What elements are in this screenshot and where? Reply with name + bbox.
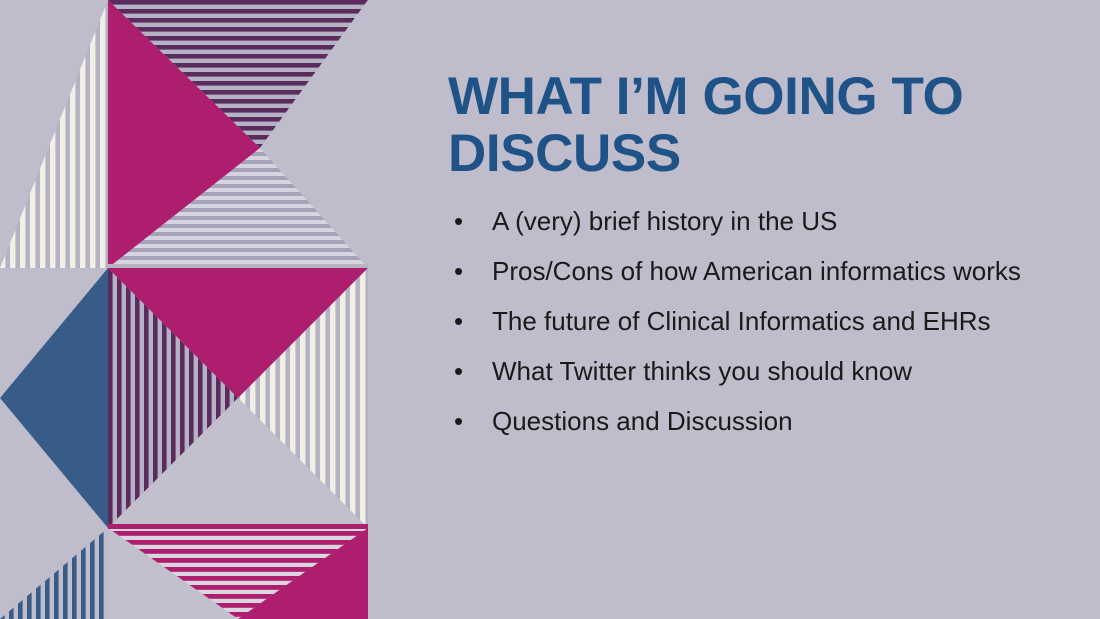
list-item: • Questions and Discussion	[450, 396, 1090, 446]
seam-accent	[108, 264, 368, 268]
cell-bottom-right	[108, 528, 368, 619]
artwork-svg	[0, 0, 368, 619]
bullet-marker-icon: •	[454, 346, 466, 396]
bullet-marker-icon: •	[454, 296, 466, 346]
bullet-marker-icon: •	[454, 396, 466, 446]
cell-mid-right	[108, 268, 368, 528]
list-item: • The future of Clinical Informatics and…	[450, 296, 1090, 346]
list-item-label: The future of Clinical Informatics and E…	[492, 296, 991, 346]
list-item: • A (very) brief history in the US	[450, 196, 1090, 246]
cell-top-right	[108, 0, 368, 268]
list-item: • Pros/Cons of how American informatics …	[450, 246, 1090, 296]
list-item-label: A (very) brief history in the US	[492, 196, 837, 246]
slide-title: WHAT I’M GOING TO DISCUSS	[448, 68, 1048, 182]
bullet-marker-icon: •	[454, 246, 466, 296]
list-item: • What Twitter thinks you should know	[450, 346, 1090, 396]
bullet-marker-icon: •	[454, 196, 466, 246]
bullet-list: • A (very) brief history in the US • Pro…	[450, 196, 1090, 446]
list-item-label: Questions and Discussion	[492, 396, 793, 446]
geometric-triangle-pattern-artwork	[0, 0, 368, 619]
slide-canvas: WHAT I’M GOING TO DISCUSS • A (very) bri…	[0, 0, 1100, 619]
seam-accent	[108, 524, 368, 529]
list-item-label: Pros/Cons of how American informatics wo…	[492, 246, 1021, 296]
list-item-label: What Twitter thinks you should know	[492, 346, 912, 396]
